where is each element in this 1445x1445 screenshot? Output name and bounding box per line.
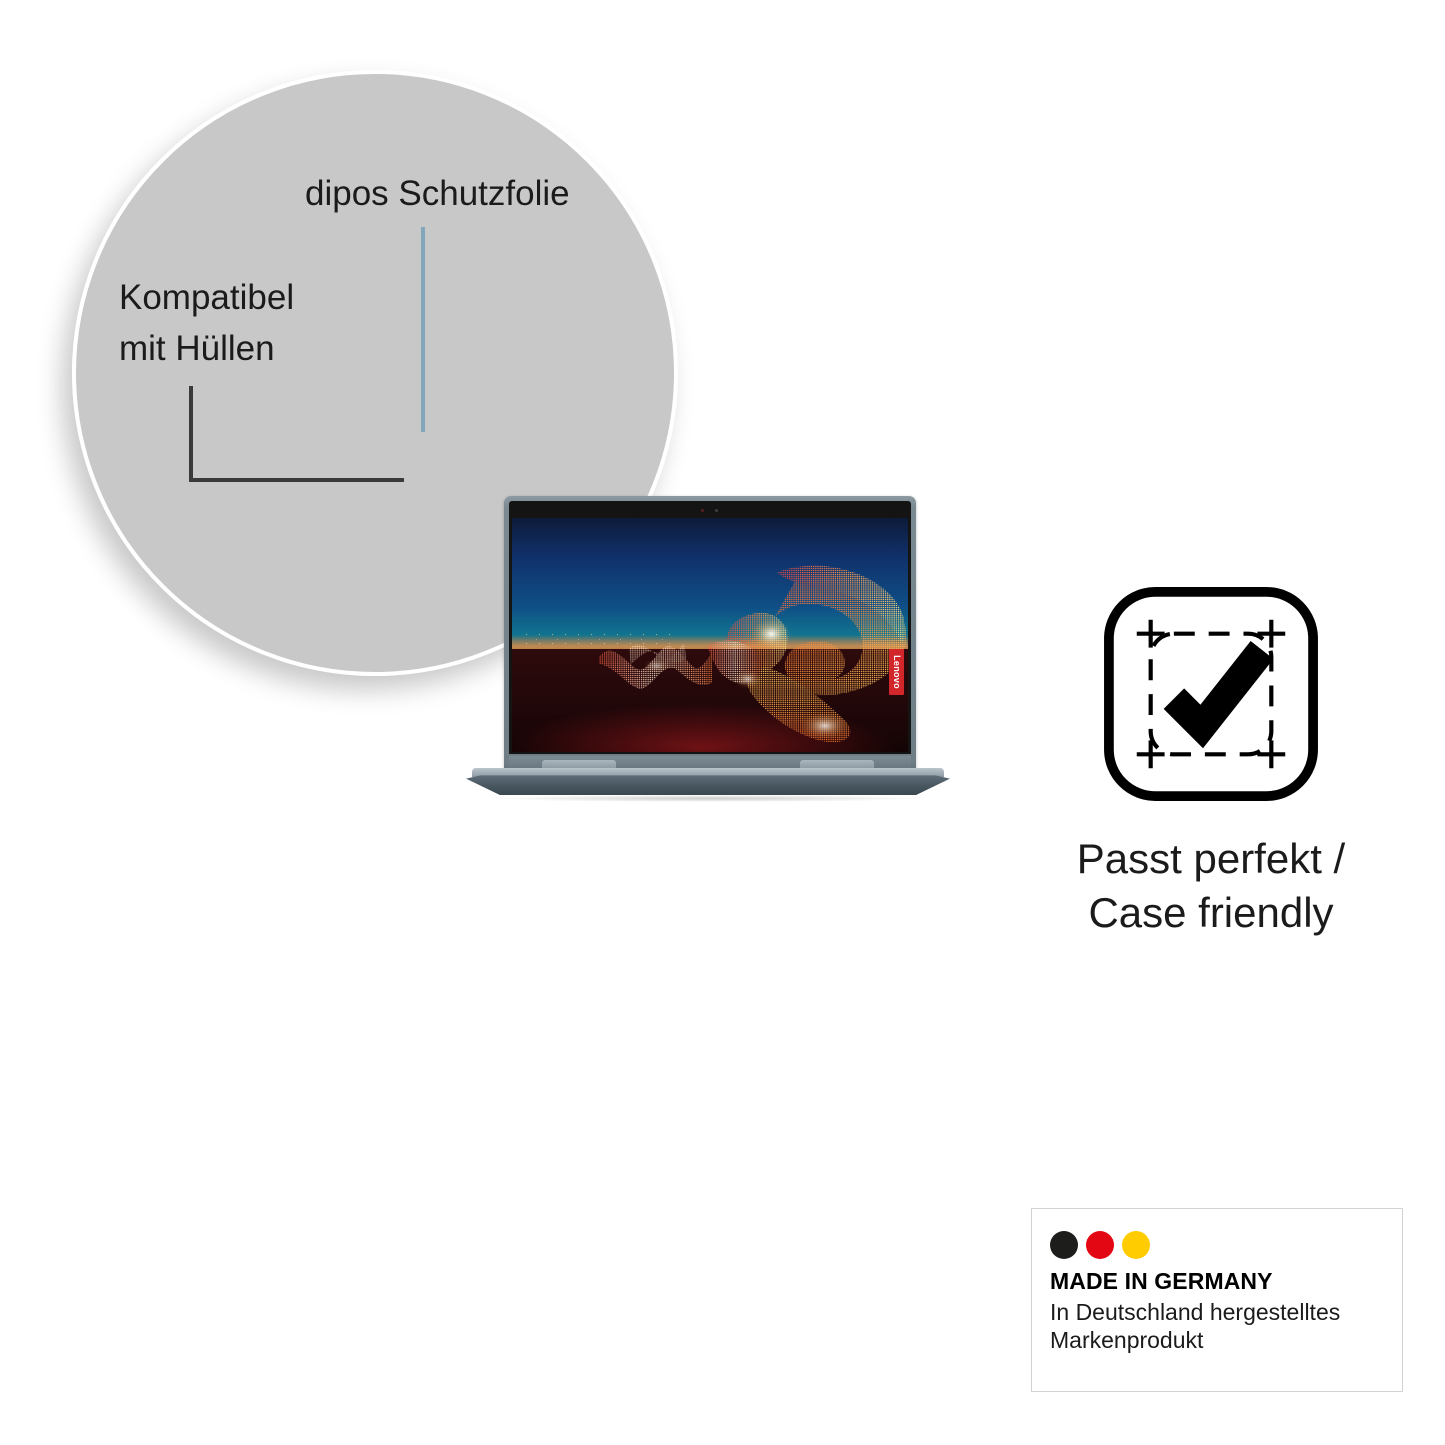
laptop-base-body: [466, 775, 950, 795]
blue-pointer-rule: [421, 227, 425, 432]
german-flag-dots: [1050, 1231, 1402, 1259]
made-in-germany-subtitle: In Deutschland hergestelltes Markenprodu…: [1050, 1298, 1402, 1356]
crop-frame-checkmark-icon: [1095, 578, 1327, 810]
case-friendly-feature: Passt perfekt / Case friendly: [1020, 578, 1402, 940]
case-friendly-caption: Passt perfekt / Case friendly: [1020, 832, 1402, 940]
laptop-drop-shadow: [496, 795, 920, 802]
lenovo-logo: Lenovo: [889, 649, 904, 695]
laptop-bezel: Lenovo: [509, 501, 911, 754]
laptop-hinge-right: [800, 760, 874, 768]
made-in-germany-badge: MADE IN GERMANY In Deutschland hergestel…: [1031, 1208, 1403, 1392]
flag-dot-red: [1086, 1231, 1114, 1259]
made-in-germany-title: MADE IN GERMANY: [1050, 1268, 1402, 1296]
laptop-hinge-left: [542, 760, 616, 768]
compatibility-label: Kompatibel mit Hüllen: [119, 273, 294, 375]
laptop-base: [466, 768, 950, 801]
flag-dot-black: [1050, 1231, 1078, 1259]
product-graphic-canvas: dipos Schutzfolie Kompatibel mit Hüllen: [0, 0, 1445, 1445]
lenovo-logo-text: Lenovo: [892, 655, 902, 689]
laptop-lid: Lenovo: [504, 496, 916, 774]
laptop-screen: Lenovo: [512, 518, 908, 752]
flag-dot-gold: [1122, 1231, 1150, 1259]
webcam-indicator-icon: [715, 509, 718, 512]
laptop-product-photo: Lenovo: [466, 496, 950, 806]
webcam-icon: [701, 509, 704, 512]
wallpaper-ribbon-art: [512, 518, 908, 752]
product-label: dipos Schutzfolie: [305, 176, 570, 211]
bracket-pointer-rule: [189, 386, 404, 482]
